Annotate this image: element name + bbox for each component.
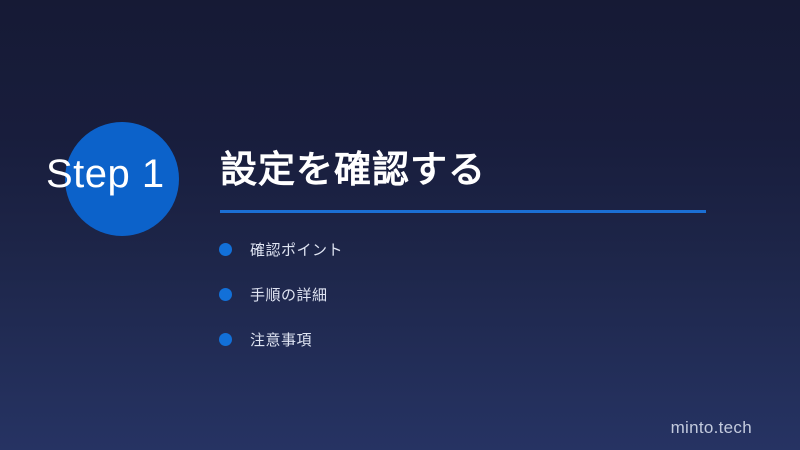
step-number-label: Step 1: [46, 149, 165, 199]
title-underline-rule: [220, 210, 706, 213]
footer-brand-label: minto.tech: [671, 418, 752, 438]
bullet-list: 確認ポイント 手順の詳細 注意事項: [219, 238, 343, 373]
list-item-label: 注意事項: [250, 329, 312, 350]
bullet-dot-icon: [219, 333, 232, 346]
headline-block: 設定を確認する: [220, 144, 710, 213]
slide-title: 設定を確認する: [220, 144, 710, 196]
bullet-dot-icon: [219, 288, 232, 301]
list-item-label: 確認ポイント: [250, 239, 343, 260]
bullet-dot-icon: [219, 243, 232, 256]
list-item: 手順の詳細: [219, 283, 343, 305]
list-item: 確認ポイント: [219, 238, 343, 260]
presentation-slide: Step 1 設定を確認する 確認ポイント 手順の詳細 注意事項 minto.t…: [0, 0, 800, 450]
list-item-label: 手順の詳細: [250, 284, 328, 305]
list-item: 注意事項: [219, 328, 343, 350]
